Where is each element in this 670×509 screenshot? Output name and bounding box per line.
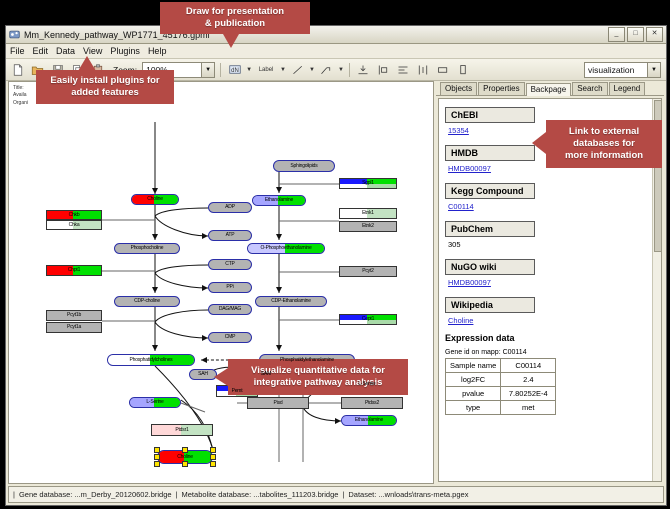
- db-header-pubchem: PubChem: [445, 221, 535, 237]
- expr-key-cell: type: [446, 401, 501, 415]
- node-label: Cept1: [362, 317, 374, 322]
- gene-node-pisd[interactable]: Pisd: [247, 397, 309, 409]
- metabolite-node-adp[interactable]: ADP: [208, 202, 252, 213]
- node-label: Etnk1: [362, 211, 374, 216]
- expression-table: Sample nameC00114log2FC2.4pvalue7.80252E…: [445, 358, 556, 415]
- table-row: Sample nameC00114: [446, 359, 556, 373]
- menu-item-data[interactable]: Data: [56, 46, 75, 56]
- metabolite-node-l-serine-left[interactable]: L-Serine: [129, 397, 181, 408]
- metabolite-node-choline-top[interactable]: Choline: [131, 194, 179, 205]
- node-label: DAG/MAG: [219, 307, 241, 312]
- toolbar-separator-2: [349, 63, 350, 77]
- resize-handle[interactable]: [210, 461, 216, 467]
- title-bar: Mm_Kennedy_pathway_WP1771_45176.gpml _ □…: [6, 26, 666, 44]
- callout-visualize: Visualize quantitative data forintegrati…: [228, 359, 408, 395]
- db-header-hmdb: HMDB: [445, 145, 535, 161]
- visualization-value: visualization: [588, 65, 634, 75]
- close-button[interactable]: ✕: [646, 27, 663, 42]
- side-tabs: Objects Properties Backpage Search Legen…: [436, 81, 664, 96]
- label-dropdown-icon[interactable]: ▼: [280, 67, 286, 73]
- status-sep-1: |: [176, 490, 178, 499]
- node-label: Etnk2: [362, 224, 374, 229]
- table-row: log2FC2.4: [446, 373, 556, 387]
- gene-node-pcyt1a[interactable]: Pcyt1a: [46, 322, 102, 333]
- metabolite-node-atp[interactable]: ATP: [208, 230, 252, 241]
- node-label: Ethanolamine: [265, 198, 293, 203]
- node-label: O-Phosphoethanolamine: [260, 246, 311, 251]
- expr-value-cell: met: [501, 401, 556, 415]
- minimize-button[interactable]: _: [608, 27, 625, 42]
- metabolite-node-cdp-ethanolamine[interactable]: CDP-Ethanolamine: [255, 296, 327, 307]
- tab-search[interactable]: Search: [572, 82, 607, 95]
- new-file-icon[interactable]: [9, 61, 26, 78]
- distribute-icon[interactable]: [415, 61, 432, 78]
- resize-handle[interactable]: [154, 454, 160, 460]
- node-label: CDP-Ethanolamine: [271, 299, 311, 304]
- db-link-wikipedia[interactable]: Choline: [448, 316, 652, 325]
- gene-node-chkb[interactable]: Chkb: [46, 210, 102, 220]
- table-row: typemet: [446, 401, 556, 415]
- node-label: Chkb: [69, 213, 80, 218]
- tab-properties[interactable]: Properties: [478, 82, 524, 95]
- status-gene-database: |: [13, 490, 15, 499]
- node-label: L-Serine: [146, 400, 163, 405]
- db-header-wikipedia: Wikipedia: [445, 297, 535, 313]
- node-label: Sphingolipids: [290, 164, 317, 169]
- chevron-down-icon[interactable]: ▼: [201, 63, 214, 77]
- metabolite-node-phosphocholine[interactable]: Phosphocholine: [114, 243, 180, 254]
- callout-links-text: Link to externaldatabases formore inform…: [565, 126, 643, 162]
- callout-links-pointer: [532, 132, 546, 154]
- metabolite-node-ethanolamine-right[interactable]: Ethanolamine: [341, 415, 397, 426]
- line-dropdown-icon[interactable]: ▼: [309, 67, 315, 73]
- toolbar-separator: [220, 63, 221, 77]
- tab-objects[interactable]: Objects: [440, 82, 477, 95]
- expr-key-cell: pvalue: [446, 387, 501, 401]
- node-label: Pcyt2: [362, 269, 374, 274]
- table-row: pvalue7.80252E-4: [446, 387, 556, 401]
- gene-node-cept1[interactable]: Cept1: [339, 314, 397, 325]
- callout-draw-pointer: [223, 34, 239, 48]
- menu-item-edit[interactable]: Edit: [33, 46, 49, 56]
- node-label: Chpt1: [68, 268, 80, 273]
- menu-item-plugins[interactable]: Plugins: [110, 46, 140, 56]
- gene-node-chka[interactable]: Chka: [46, 220, 102, 230]
- gene-node-pcyt1b[interactable]: Pcyt1b: [46, 310, 102, 321]
- node-label: Pcyt1b: [67, 313, 81, 318]
- menu-item-view[interactable]: View: [83, 46, 102, 56]
- menu-bar: File Edit Data View Plugins Help: [6, 44, 666, 59]
- datanode-icon[interactable]: dN: [226, 61, 243, 78]
- pathway-canvas[interactable]: Title: Availa Organi: [8, 81, 434, 484]
- metabolite-node-dag-mag[interactable]: DAG/MAG: [208, 304, 252, 315]
- line-icon[interactable]: [289, 61, 306, 78]
- metabolite-node-ctp[interactable]: CTP: [208, 259, 252, 270]
- interaction-icon[interactable]: [318, 61, 335, 78]
- metabolite-node-sah[interactable]: SAH: [189, 369, 217, 380]
- callout-plugins: Easily install plugins foradded features: [36, 70, 174, 104]
- callout-visualize-pointer: [214, 368, 228, 386]
- node-label: Sgpl1: [362, 181, 374, 186]
- node-label: Pisd: [274, 401, 283, 406]
- expr-key-cell: Sample name: [446, 359, 501, 373]
- metabolite-node-cdp-choline[interactable]: CDP-choline: [114, 296, 180, 307]
- gene-node-etnk1[interactable]: Etnk1: [339, 208, 397, 219]
- node-label: L-Serine: [358, 382, 375, 387]
- gene-node-ptdsr1[interactable]: Ptdsr1: [151, 424, 213, 436]
- callout-plugins-pointer: [78, 56, 96, 71]
- status-item-metabolite-db: Metabolite database: ...tabolites_111203…: [182, 490, 339, 499]
- menu-item-file[interactable]: File: [10, 46, 25, 56]
- maximize-button[interactable]: □: [627, 27, 644, 42]
- chevron-down-icon-vis[interactable]: ▼: [647, 63, 660, 77]
- metabolite-node-o-phosphoethanolamine[interactable]: O-Phosphoethanolamine: [247, 243, 325, 254]
- common-height-icon[interactable]: [455, 61, 472, 78]
- node-label: CTP: [225, 262, 234, 267]
- node-label: ATP: [226, 233, 235, 238]
- metabolite-node-ppi[interactable]: PPi: [208, 282, 252, 293]
- db-header-nugo: NuGO wiki: [445, 259, 535, 275]
- tab-legend[interactable]: Legend: [609, 82, 646, 95]
- align-left-icon[interactable]: [375, 61, 392, 78]
- db-link-kegg[interactable]: C00114: [448, 202, 652, 211]
- node-label: Pcyt1a: [67, 325, 81, 330]
- gene-node-sgpl1[interactable]: Sgpl1: [339, 178, 397, 189]
- visualization-combo[interactable]: visualization ▼: [584, 62, 661, 78]
- db-header-kegg: Kegg Compound: [445, 183, 535, 199]
- node-label: SAH: [198, 372, 208, 377]
- db-link-nugo[interactable]: HMDB00097: [448, 278, 652, 287]
- tab-backpage[interactable]: Backpage: [526, 83, 572, 96]
- expr-key-cell: log2FC: [446, 373, 501, 387]
- status-sep-2: |: [342, 490, 344, 499]
- align-stack-icon[interactable]: [395, 61, 412, 78]
- db-value-pubchem: 305: [448, 240, 652, 249]
- resize-handle[interactable]: [154, 447, 160, 453]
- node-label: ADP: [225, 205, 235, 210]
- resize-handle[interactable]: [210, 447, 216, 453]
- node-label: PPi: [226, 285, 233, 290]
- expr-value-cell: C00114: [501, 359, 556, 373]
- node-label: Ethanolamine: [355, 418, 383, 423]
- status-item-gene-db: Gene database: ...m_Derby_20120602.bridg…: [19, 490, 172, 499]
- resize-handle[interactable]: [182, 447, 188, 453]
- common-width-icon[interactable]: [435, 61, 452, 78]
- align-top-icon[interactable]: [355, 61, 372, 78]
- gene-node-pcyt2[interactable]: Pcyt2: [339, 266, 397, 277]
- expr-value-cell: 7.80252E-4: [501, 387, 556, 401]
- node-label: Choline: [177, 455, 193, 460]
- node-label: Phosphatidylethanolamine: [280, 358, 334, 363]
- gene-node-chpt1[interactable]: Chpt1: [46, 265, 102, 276]
- callout-links: Link to externaldatabases formore inform…: [546, 120, 662, 168]
- node-label: Chka: [69, 223, 80, 228]
- resize-handle[interactable]: [154, 461, 160, 467]
- svg-text:dN: dN: [231, 68, 239, 74]
- node-label: Ptdsr1: [175, 428, 188, 433]
- expression-data-title: Expression data: [445, 333, 652, 343]
- expr-value-cell: 2.4: [501, 373, 556, 387]
- screenshot-root: Mm_Kennedy_pathway_WP1771_45176.gpml _ □…: [0, 0, 670, 509]
- gene-node-etnk2[interactable]: Etnk2: [339, 221, 397, 232]
- app-icon: [9, 29, 20, 40]
- datanode-dropdown-icon[interactable]: ▼: [246, 67, 252, 73]
- node-label: Pemt: [232, 389, 243, 394]
- window-controls: _ □ ✕: [608, 27, 663, 42]
- gene-node-ptdss2[interactable]: Ptdss2: [341, 397, 403, 409]
- label-icon[interactable]: Label: [255, 61, 277, 78]
- metabolite-node-ethanolamine-top[interactable]: Ethanolamine: [252, 195, 306, 206]
- callout-draw-text: Draw for presentation& publication: [186, 6, 284, 30]
- node-label: Ptdss2: [365, 401, 379, 406]
- status-bar: | Gene database: ...m_Derby_20120602.bri…: [8, 486, 664, 503]
- metabolite-node-phosphatidylcholines[interactable]: Phosphatidylcholines: [107, 354, 195, 366]
- db-header-chebi: ChEBI: [445, 107, 535, 123]
- metabolite-node-cmp[interactable]: CMP: [208, 332, 252, 343]
- callout-draw: Draw for presentation& publication: [160, 2, 310, 34]
- resize-handle[interactable]: [210, 454, 216, 460]
- interaction-dropdown-icon[interactable]: ▼: [338, 67, 344, 73]
- callout-plugins-text: Easily install plugins foradded features: [50, 75, 159, 99]
- node-label: SAM: [261, 372, 271, 377]
- menu-item-help[interactable]: Help: [148, 46, 167, 56]
- metabolite-node-sphingolipids[interactable]: Sphingolipids: [273, 160, 335, 172]
- node-label: Phosphocholine: [131, 246, 164, 251]
- gene-id-line: Gene id on mapp: C00114: [445, 349, 652, 356]
- node-label: CDP-choline: [134, 299, 160, 304]
- status-item-dataset: Dataset: ...wnloads\trans-meta.pgex: [348, 490, 468, 499]
- node-label: CMP: [225, 335, 236, 340]
- node-label: Choline: [147, 197, 163, 202]
- resize-handle[interactable]: [182, 461, 188, 467]
- node-label: Phosphatidylcholines: [130, 358, 173, 363]
